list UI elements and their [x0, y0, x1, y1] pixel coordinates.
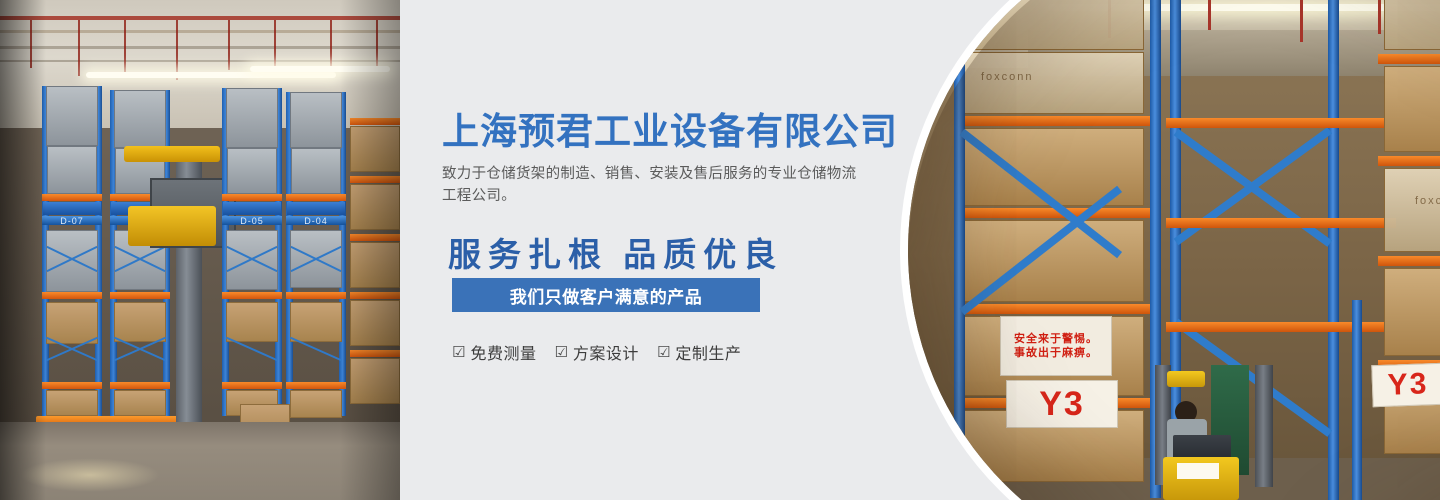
rack-beam	[1166, 218, 1396, 228]
check-box-icon: ☑	[554, 345, 567, 360]
reach-truck-boom	[1167, 371, 1205, 387]
ceiling-rod	[228, 20, 230, 70]
slogan-text: 服务扎根 品质优良	[448, 228, 783, 276]
rack-column: D-07	[42, 86, 102, 416]
carton-brand-text: foxconn	[981, 71, 1034, 83]
left-photo-shadow	[340, 0, 400, 500]
aisle-label: D-04	[304, 216, 328, 226]
sprinkler-pipe	[1208, 0, 1211, 30]
order-picker-boom	[124, 146, 220, 162]
safety-sign-line2: 事故出于麻痹。	[1014, 346, 1098, 360]
rack-column: D-05	[222, 88, 282, 416]
ceiling-rod	[78, 20, 80, 76]
feature-list: ☑ 免费测量 ☑ 方案设计 ☑ 定制生产	[452, 340, 741, 364]
ceiling-light-icon	[86, 72, 336, 78]
company-description: 致力于仓储货架的制造、销售、安装及售后服务的专业仓储物流工程公司。	[442, 163, 857, 207]
reach-truck-decal	[1177, 463, 1219, 479]
check-box-icon: ☑	[452, 345, 465, 360]
sprinkler-pipe	[1300, 0, 1303, 42]
order-picker-body	[128, 206, 216, 246]
left-photo-shadow	[0, 0, 46, 500]
cta-button-label: 我们只做客户满意的产品	[510, 283, 703, 308]
ceiling-rod	[176, 20, 178, 80]
rack-bay: foxconn	[1378, 0, 1440, 500]
aisle-sign-edge-label: Y3	[1387, 367, 1429, 402]
right-photo-clip: foxconn foxconn	[900, 0, 1440, 500]
company-title: 上海预君工业设备有限公司	[442, 101, 898, 155]
carton-brand-text: foxconn	[1415, 195, 1440, 207]
aisle-sign-y3-edge: Y3	[1371, 363, 1440, 407]
feature-label: 免费测量	[470, 340, 536, 364]
aisle-sign-y3: Y3	[1006, 380, 1118, 428]
left-warehouse-photo: D-07 D-06	[0, 0, 400, 500]
feature-label: 定制生产	[675, 340, 741, 364]
cta-button[interactable]: 我们只做客户满意的产品	[452, 278, 760, 312]
promo-banner: D-07 D-06	[0, 0, 1440, 500]
rack-beam	[1166, 118, 1396, 128]
rack-column: D-06	[110, 90, 170, 416]
safety-sign-line1: 安全来于警惕。	[1014, 332, 1098, 346]
aisle-sign-label: Y3	[1039, 385, 1085, 424]
rack-upright	[1352, 300, 1362, 500]
ceiling-rod	[124, 20, 126, 72]
reach-truck-group	[1115, 365, 1315, 500]
reach-truck-mast	[1255, 365, 1273, 487]
feature-item-custom-production: ☑ 定制生产	[657, 340, 741, 364]
rack-column: D-04	[286, 92, 346, 416]
feature-label: 方案设计	[573, 340, 639, 364]
feature-item-free-measure: ☑ 免费测量	[452, 340, 536, 364]
rack-upright	[1328, 0, 1339, 500]
safety-sign: 安全来于警惕。 事故出于麻痹。	[1000, 316, 1112, 376]
feature-item-plan-design: ☑ 方案设计	[554, 340, 638, 364]
aisle-label: D-07	[60, 216, 84, 226]
aisle-label: D-05	[240, 216, 264, 226]
check-box-icon: ☑	[657, 345, 670, 360]
text-panel: 上海预君工业设备有限公司 致力于仓储货架的制造、销售、安装及售后服务的专业仓储物…	[400, 0, 960, 500]
